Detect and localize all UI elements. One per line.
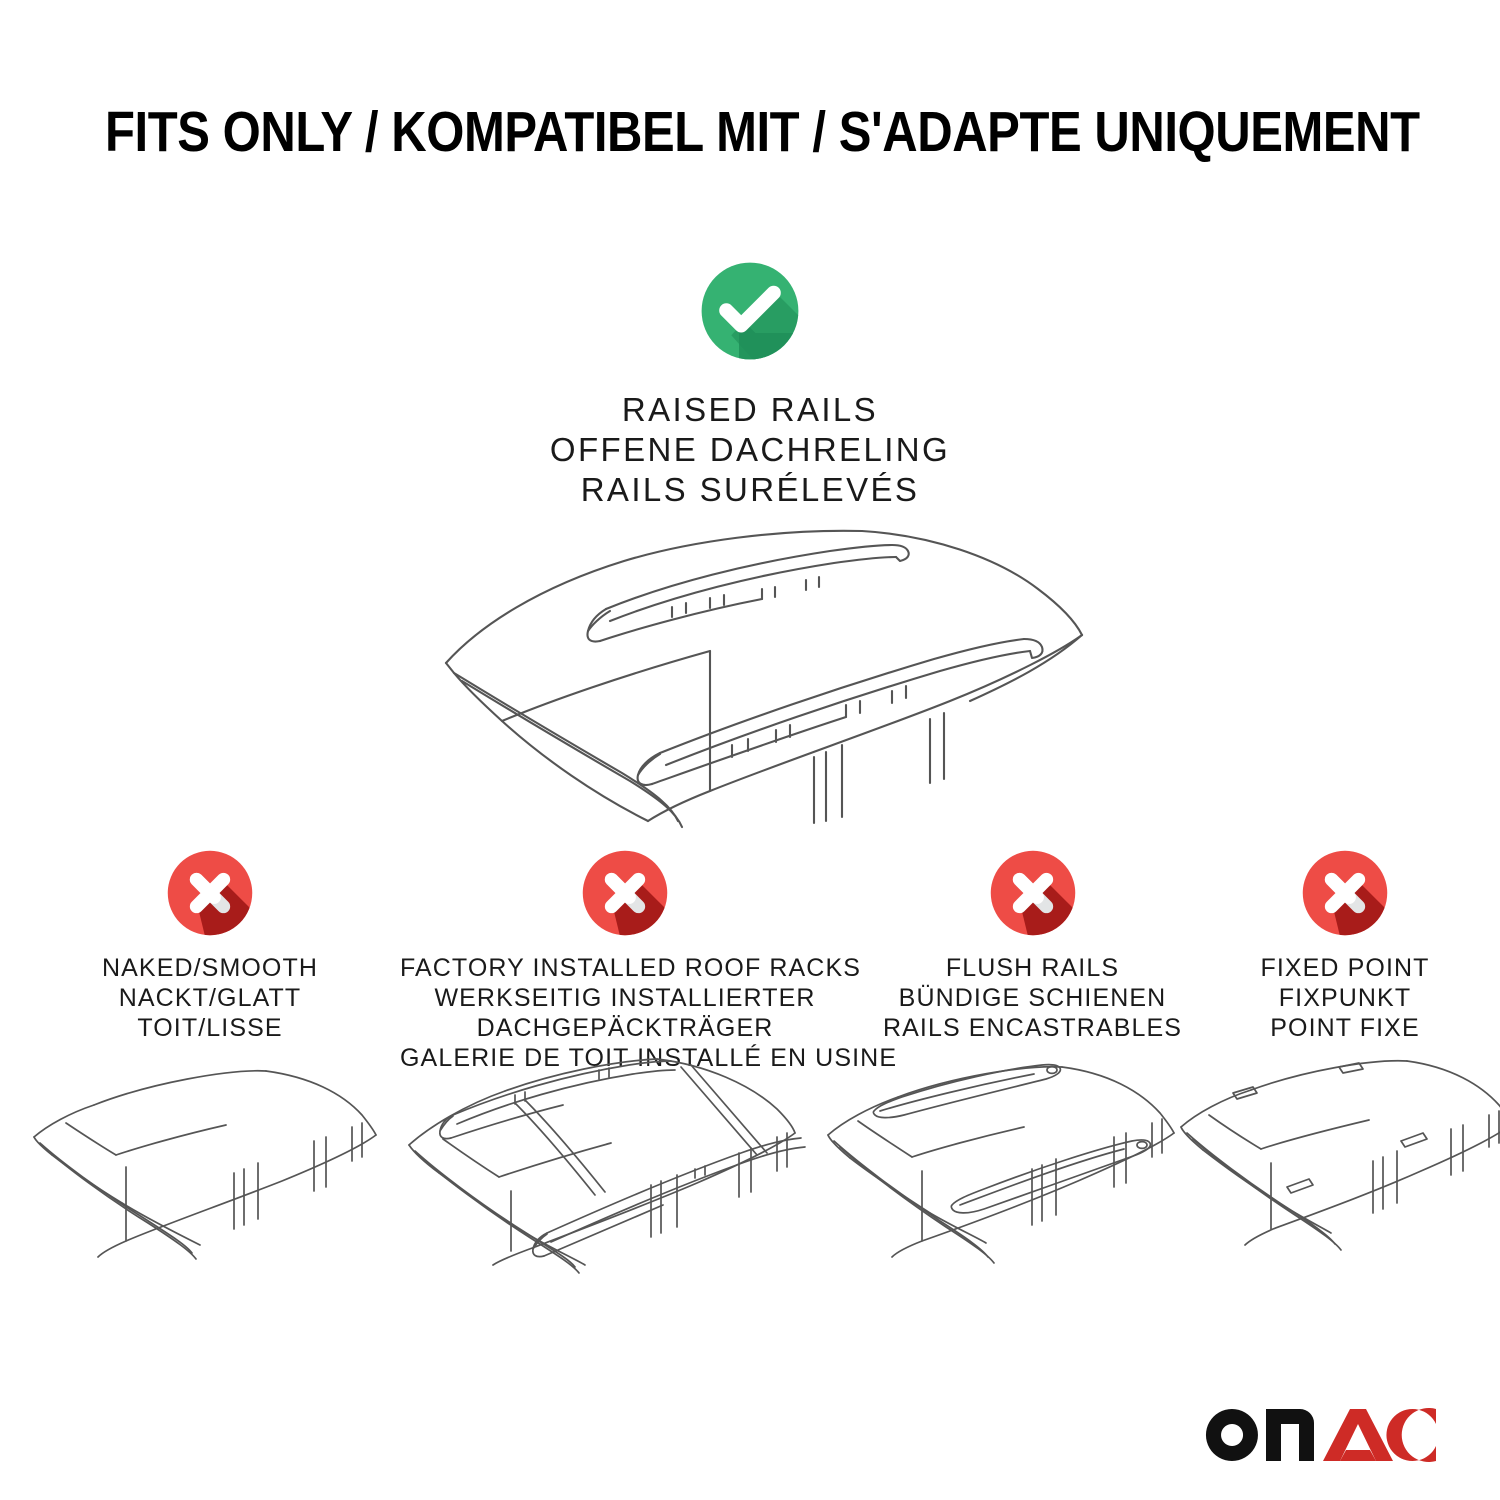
label-de: BÜNDIGE SCHIENEN — [860, 983, 1205, 1013]
labels-naked-smooth: NAKED/SMOOTH NACKT/GLATT TOIT/LISSE — [30, 953, 390, 1043]
incompatible-cell-fixed-point: FIXED POINT FIXPUNKT POINT FIXE — [1205, 845, 1485, 1305]
label-de: NACKT/GLATT — [30, 983, 390, 1013]
car-roof-flush-rails-illustration — [820, 1045, 1200, 1275]
compatible-label-en: RAISED RAILS — [0, 390, 1500, 430]
label-en: FIXED POINT — [1205, 953, 1485, 983]
labels-fixed-point: FIXED POINT FIXPUNKT POINT FIXE — [1205, 953, 1485, 1043]
car-roof-raised-rails-illustration — [410, 505, 1110, 835]
labels-flush-rails: FLUSH RAILS BÜNDIGE SCHIENEN RAILS ENCAS… — [860, 953, 1205, 1043]
car-roof-fixed-point-illustration — [1175, 1045, 1500, 1275]
x-circle-icon — [1297, 845, 1393, 941]
incompatible-cell-factory-racks: FACTORY INSTALLED ROOF RACKS WERKSEITIG … — [400, 845, 850, 1305]
compatible-label-fr: RAILS SURÉLEVÉS — [0, 470, 1500, 510]
header: FITS ONLY / KOMPATIBEL MIT / S'ADAPTE UN… — [0, 98, 1500, 166]
omac-logo — [1188, 1398, 1438, 1472]
label-de-1: WERKSEITIG INSTALLIERTER — [400, 983, 850, 1013]
page-title: FITS ONLY / KOMPATIBEL MIT / S'ADAPTE UN… — [105, 98, 1395, 166]
compatible-label-de: OFFENE DACHRELING — [0, 430, 1500, 470]
label-fr: RAILS ENCASTRABLES — [860, 1013, 1205, 1043]
label-en: NAKED/SMOOTH — [30, 953, 390, 983]
incompatible-grid: NAKED/SMOOTH NACKT/GLATT TOIT/LISSE — [0, 845, 1500, 1305]
check-circle-icon — [695, 256, 805, 366]
x-circle-icon — [162, 845, 258, 941]
x-circle-icon — [985, 845, 1081, 941]
label-fr: POINT FIXE — [1205, 1013, 1485, 1043]
car-roof-factory-racks-illustration — [395, 1045, 855, 1275]
incompatible-cell-flush-rails: FLUSH RAILS BÜNDIGE SCHIENEN RAILS ENCAS… — [860, 845, 1205, 1305]
x-circle-icon — [577, 845, 673, 941]
compatible-labels: RAISED RAILS OFFENE DACHRELING RAILS SUR… — [0, 390, 1500, 510]
compatible-block: RAISED RAILS OFFENE DACHRELING RAILS SUR… — [0, 256, 1500, 510]
label-en: FACTORY INSTALLED ROOF RACKS — [400, 953, 850, 983]
label-de: FIXPUNKT — [1205, 983, 1485, 1013]
car-roof-naked-illustration — [30, 1045, 390, 1275]
label-fr: TOIT/LISSE — [30, 1013, 390, 1043]
label-de-2: DACHGEPÄCKTRÄGER — [400, 1013, 850, 1043]
label-en: FLUSH RAILS — [860, 953, 1205, 983]
incompatible-cell-naked-smooth: NAKED/SMOOTH NACKT/GLATT TOIT/LISSE — [30, 845, 390, 1305]
